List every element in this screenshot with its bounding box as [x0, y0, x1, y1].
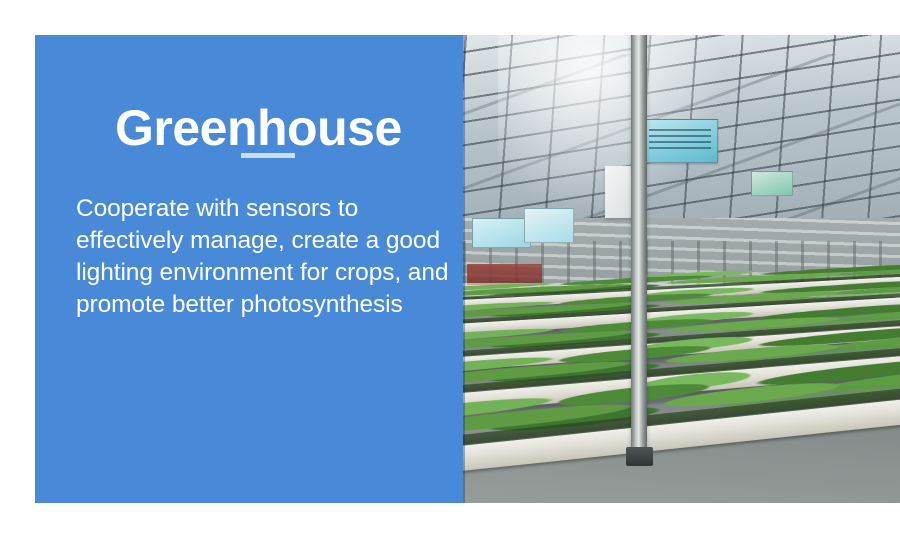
- hanging-sign: [642, 119, 718, 163]
- page-title: Greenhouse: [115, 103, 402, 153]
- hanging-sign-small-left: [472, 218, 531, 248]
- photo-scene: [463, 35, 900, 503]
- greenhouse-photo: [463, 35, 900, 503]
- hanging-sign-green-right: [751, 171, 792, 196]
- slide-root: Greenhouse Cooperate with sensors to eff…: [0, 0, 900, 534]
- photo-left-edge: [463, 35, 465, 503]
- support-column-base: [626, 447, 652, 466]
- hanging-sign-small-left-2: [524, 208, 574, 243]
- text-panel: Greenhouse Cooperate with sensors to eff…: [35, 35, 463, 503]
- support-column: [631, 35, 647, 461]
- body-copy: Cooperate with sensors to effectively ma…: [76, 193, 456, 321]
- title-divider-rule: [241, 153, 295, 158]
